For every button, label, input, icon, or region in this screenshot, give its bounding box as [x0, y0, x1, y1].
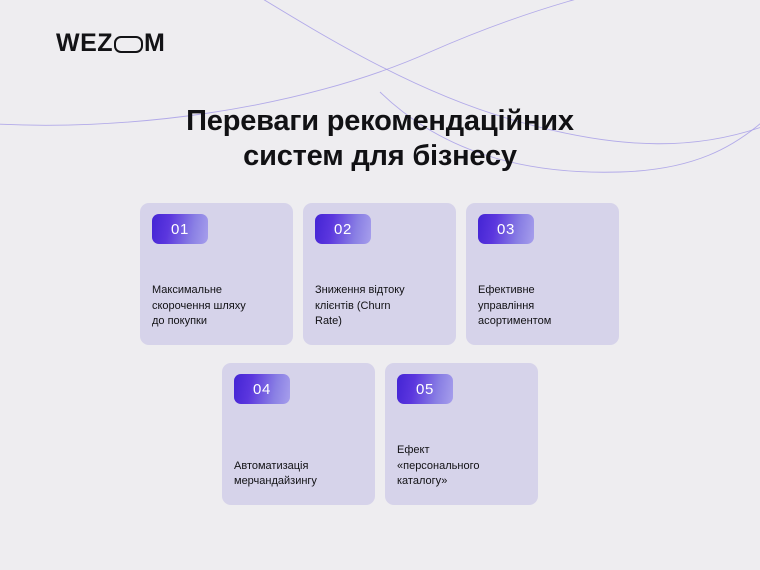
benefit-card-02: 02 Зниження відтоку клієнтів (Churn Rate…: [303, 203, 456, 345]
benefit-card-04: 04 Автоматизація мерчандайзингу: [222, 363, 375, 505]
benefit-card-01: 01 Максимальне скорочення шляху до покуп…: [140, 203, 293, 345]
card-text: Максимальне скорочення шляху до покупки: [152, 283, 280, 329]
card-text: Ефективне управління асортиментом: [478, 283, 606, 329]
benefit-card-05: 05 Ефект «персонального каталогу»: [385, 363, 538, 505]
oval-o-icon: [114, 36, 143, 53]
logo-text-after: M: [144, 31, 165, 56]
card-number-badge: 01: [152, 214, 208, 244]
card-text: Автоматизація мерчандайзингу: [234, 459, 362, 489]
card-number-badge: 05: [397, 374, 453, 404]
page-title: Переваги рекомендаційних систем для бізн…: [0, 104, 760, 175]
wezom-logo: WEZ M: [56, 30, 165, 56]
slide-canvas: WEZ M Переваги рекомендаційних систем дл…: [0, 0, 760, 570]
card-text: Ефект «персонального каталогу»: [397, 443, 525, 489]
card-number-badge: 03: [478, 214, 534, 244]
benefit-card-03: 03 Ефективне управління асортиментом: [466, 203, 619, 345]
logo-text-before: WEZ: [56, 31, 113, 56]
card-number-badge: 04: [234, 374, 290, 404]
card-number-badge: 02: [315, 214, 371, 244]
card-text: Зниження відтоку клієнтів (Churn Rate): [315, 283, 443, 329]
